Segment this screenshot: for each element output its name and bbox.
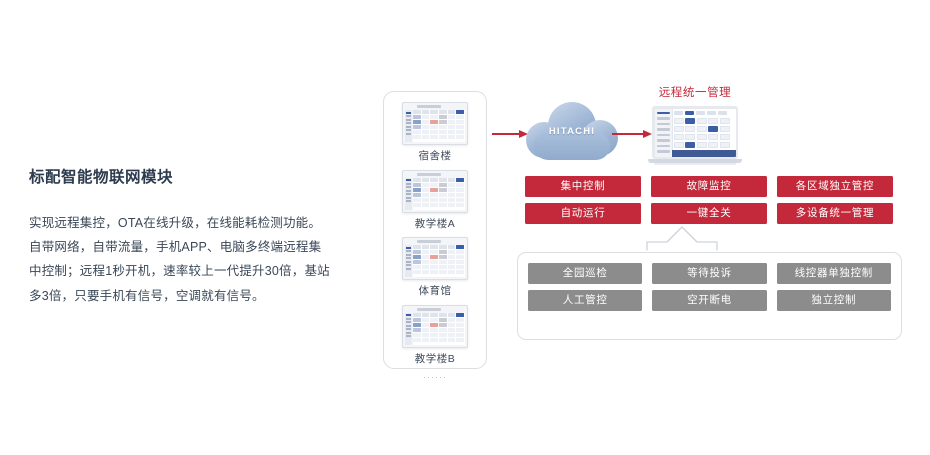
feature-button-wired-controller-individual[interactable]: 线控器单独控制 <box>777 263 891 284</box>
feature-button-fault-monitoring[interactable]: 故障监控 <box>651 176 767 197</box>
feature-text-block: 标配智能物联网模块 实现远程集控，OTA在线升级，在线能耗检测功能。 自带网络，… <box>29 167 349 308</box>
building-label: 教学楼B <box>384 354 486 365</box>
cloud-icon: HITACHI <box>526 100 618 168</box>
page-title: 标配智能物联网模块 <box>29 167 349 189</box>
feature-description: 实现远程集控，OTA在线升级，在线能耗检测功能。 自带网络，自带流量，手机APP… <box>29 211 349 309</box>
feature-button-breaker-power-off[interactable]: 空开断电 <box>652 290 766 311</box>
feature-button-manual-control[interactable]: 人工管控 <box>528 290 642 311</box>
feature-button-multi-device-management[interactable]: 多设备统一管理 <box>777 203 893 224</box>
cloud-brand-label: HITACHI <box>526 126 618 137</box>
feature-button-await-complaint[interactable]: 等待投诉 <box>652 263 766 284</box>
manual-features-panel: 全园巡检 等待投诉 线控器单独控制 人工管控 空开断电 独立控制 <box>517 252 902 340</box>
laptop-icon <box>648 106 742 168</box>
building-label: 教学楼A <box>384 219 486 230</box>
buildings-ellipsis: ······ <box>384 372 486 382</box>
building-label: 体育馆 <box>384 286 486 297</box>
feature-button-centralized-control[interactable]: 集中控制 <box>525 176 641 197</box>
list-item[interactable]: 教学楼A <box>384 170 486 230</box>
list-item[interactable]: 教学楼B <box>384 305 486 365</box>
building-label: 宿舍楼 <box>384 151 486 162</box>
button-row: 全园巡检 等待投诉 线控器单独控制 <box>528 263 891 284</box>
list-item[interactable]: 宿舍楼 <box>384 102 486 162</box>
remote-management-label: 远程统一管理 <box>620 84 770 100</box>
button-row: 集中控制 故障监控 各区域独立管控 <box>525 176 893 197</box>
iot-architecture-diagram: 宿舍楼 教学楼A <box>380 80 910 390</box>
button-row: 自动运行 一键全关 多设备统一管理 <box>525 203 893 224</box>
feature-button-one-key-shutdown[interactable]: 一键全关 <box>651 203 767 224</box>
arrow-right-icon <box>492 130 528 139</box>
feature-button-independent-control[interactable]: 独立控制 <box>777 290 891 311</box>
remote-features-group: 集中控制 故障监控 各区域独立管控 自动运行 一键全关 多设备统一管理 <box>525 176 893 230</box>
arrow-up-icon <box>645 225 719 251</box>
button-row: 人工管控 空开断电 独立控制 <box>528 290 891 311</box>
arrow-right-icon <box>612 130 652 139</box>
control-panel-thumbnail-icon <box>402 305 468 348</box>
buildings-panel: 宿舍楼 教学楼A <box>383 91 487 369</box>
list-item[interactable]: 体育馆 <box>384 237 486 297</box>
feature-button-campus-inspection[interactable]: 全园巡检 <box>528 263 642 284</box>
feature-button-zone-independent-control[interactable]: 各区域独立管控 <box>777 176 893 197</box>
feature-button-automatic-operation[interactable]: 自动运行 <box>525 203 641 224</box>
control-panel-thumbnail-icon <box>402 102 468 145</box>
control-panel-thumbnail-icon <box>402 237 468 280</box>
control-panel-thumbnail-icon <box>402 170 468 213</box>
